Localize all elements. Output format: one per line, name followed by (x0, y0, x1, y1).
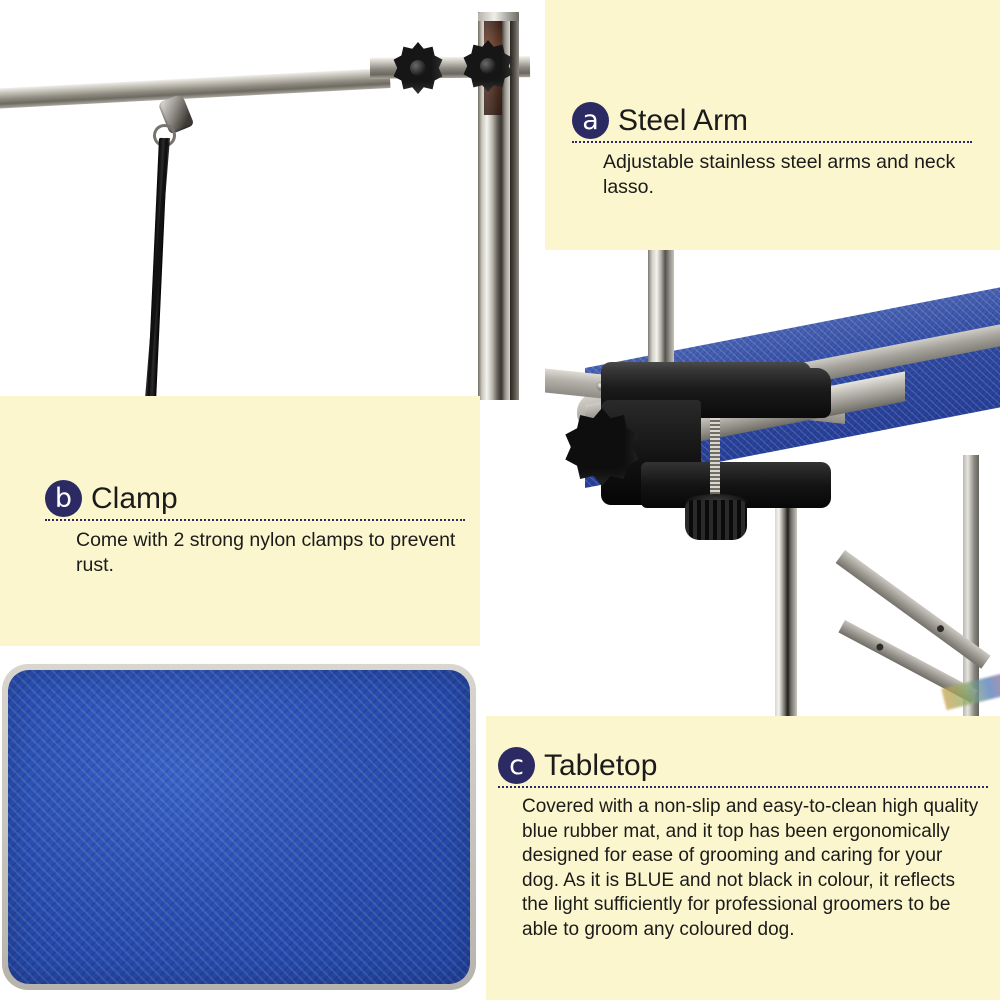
feature-title-c: Tabletop (544, 749, 657, 782)
post-cap (478, 12, 519, 21)
dotted-rule-b (45, 519, 465, 521)
adjustment-knob-icon (392, 42, 444, 94)
dotted-rule-a (572, 141, 972, 143)
clamp-tighten-wheel (685, 500, 747, 540)
adjustment-knob-icon (462, 40, 514, 92)
badge-letter-b: b (45, 480, 82, 517)
feature-body-a: Adjustable stainless steel arms and neck… (603, 150, 958, 200)
photo-clamp (545, 250, 1000, 716)
feature-block-tabletop: c Tabletop Covered with a non-slip and e… (498, 745, 988, 942)
product-feature-collage: a Steel Arm Adjustable stainless steel a… (0, 0, 1000, 1000)
clamp-star-knob-icon (563, 408, 641, 486)
feature-title-b: Clamp (91, 482, 178, 515)
photo-steel-arm (0, 0, 545, 400)
photo-tabletop-mat (0, 646, 486, 1000)
table-leg-chrome (775, 480, 797, 716)
feature-heading-a: a Steel Arm (572, 100, 972, 137)
brace-hole (875, 642, 884, 651)
badge-letter-a: a (572, 102, 609, 139)
brace-hole (936, 624, 946, 634)
blue-rubber-mat (2, 664, 476, 990)
feature-heading-c: c Tabletop (498, 745, 988, 782)
feature-block-steel-arm: a Steel Arm Adjustable stainless steel a… (572, 100, 972, 200)
dotted-rule-c (498, 786, 988, 788)
table-leg-far (963, 455, 979, 716)
blue-rubber-mat-surface (8, 670, 470, 984)
steel-arm-horizontal-bar (0, 68, 391, 109)
feature-body-c: Covered with a non-slip and easy-to-clea… (522, 795, 982, 942)
feature-block-clamp: b Clamp Come with 2 strong nylon clamps … (45, 478, 465, 578)
feature-heading-b: b Clamp (45, 478, 465, 515)
feature-body-b: Come with 2 strong nylon clamps to preve… (76, 528, 456, 578)
badge-letter-c: c (498, 747, 535, 784)
feature-title-a: Steel Arm (618, 104, 748, 137)
